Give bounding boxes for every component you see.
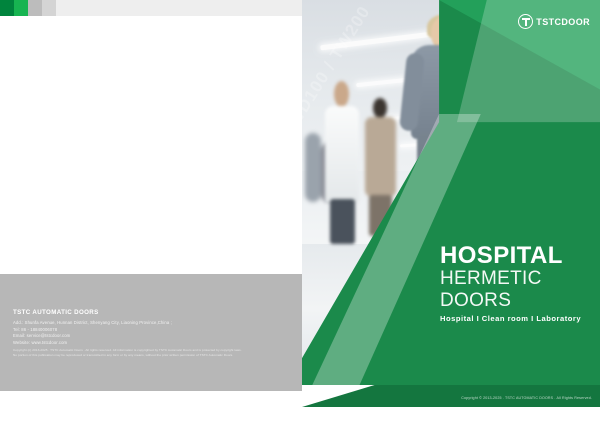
back-cover-bottom-margin	[0, 391, 302, 423]
back-cover-white-area	[0, 16, 302, 274]
back-cover-copyright: Copyright (c) 2013-2025 . TSTC Automatic…	[13, 348, 281, 359]
contact-block: TSTC AUTOMATIC DOORS Add.: Shunfa Avenue…	[13, 310, 253, 347]
front-cover-copyright: Copyright © 2013-2025 . TSTC AUTOMATIC D…	[461, 396, 592, 400]
back-cover-gray-panel: TSTC AUTOMATIC DOORS Add.: Shunfa Avenue…	[0, 274, 302, 391]
company-address: Add.: Shunfa Avenue, Hunnan District, Sh…	[13, 320, 253, 327]
brand-logo-text: TSTCDOOR	[536, 17, 590, 27]
company-email: Email: service@tstcdoor.com	[13, 333, 253, 340]
swatch-light-gray	[42, 0, 56, 16]
color-swatch-strip	[0, 0, 56, 16]
back-cover-page: TSTC AUTOMATIC DOORS Add.: Shunfa Avenue…	[0, 16, 302, 391]
swatch-dark-green	[0, 0, 14, 16]
front-cover-page: TH100 / TWD100 / TW200 TSTCDOOR HOSPITAL…	[302, 0, 600, 407]
company-tel: Tel: 86 - 18840006078	[13, 327, 253, 334]
cover-subtitle: HERMETIC DOORS	[440, 268, 600, 312]
company-name: TSTC AUTOMATIC DOORS	[13, 310, 253, 317]
doctor-figure	[320, 81, 365, 244]
copyright-line-2: No portion of this publication may be re…	[13, 353, 281, 358]
brand-logo: TSTCDOOR	[518, 14, 590, 29]
company-website: Website: www.tstcdoor.com	[13, 340, 253, 347]
cover-title: HOSPITAL	[440, 244, 600, 268]
tstc-logo-icon	[518, 14, 533, 29]
brochure-spread: TSTC AUTOMATIC DOORS Add.: Shunfa Avenue…	[0, 0, 600, 407]
swatch-medium-gray	[28, 0, 42, 16]
cover-tagline: Hospital I Clean room I Laboratory	[440, 314, 600, 323]
swatch-bright-green	[14, 0, 28, 16]
cover-title-block: HOSPITAL HERMETIC DOORS Hospital I Clean…	[440, 244, 600, 323]
